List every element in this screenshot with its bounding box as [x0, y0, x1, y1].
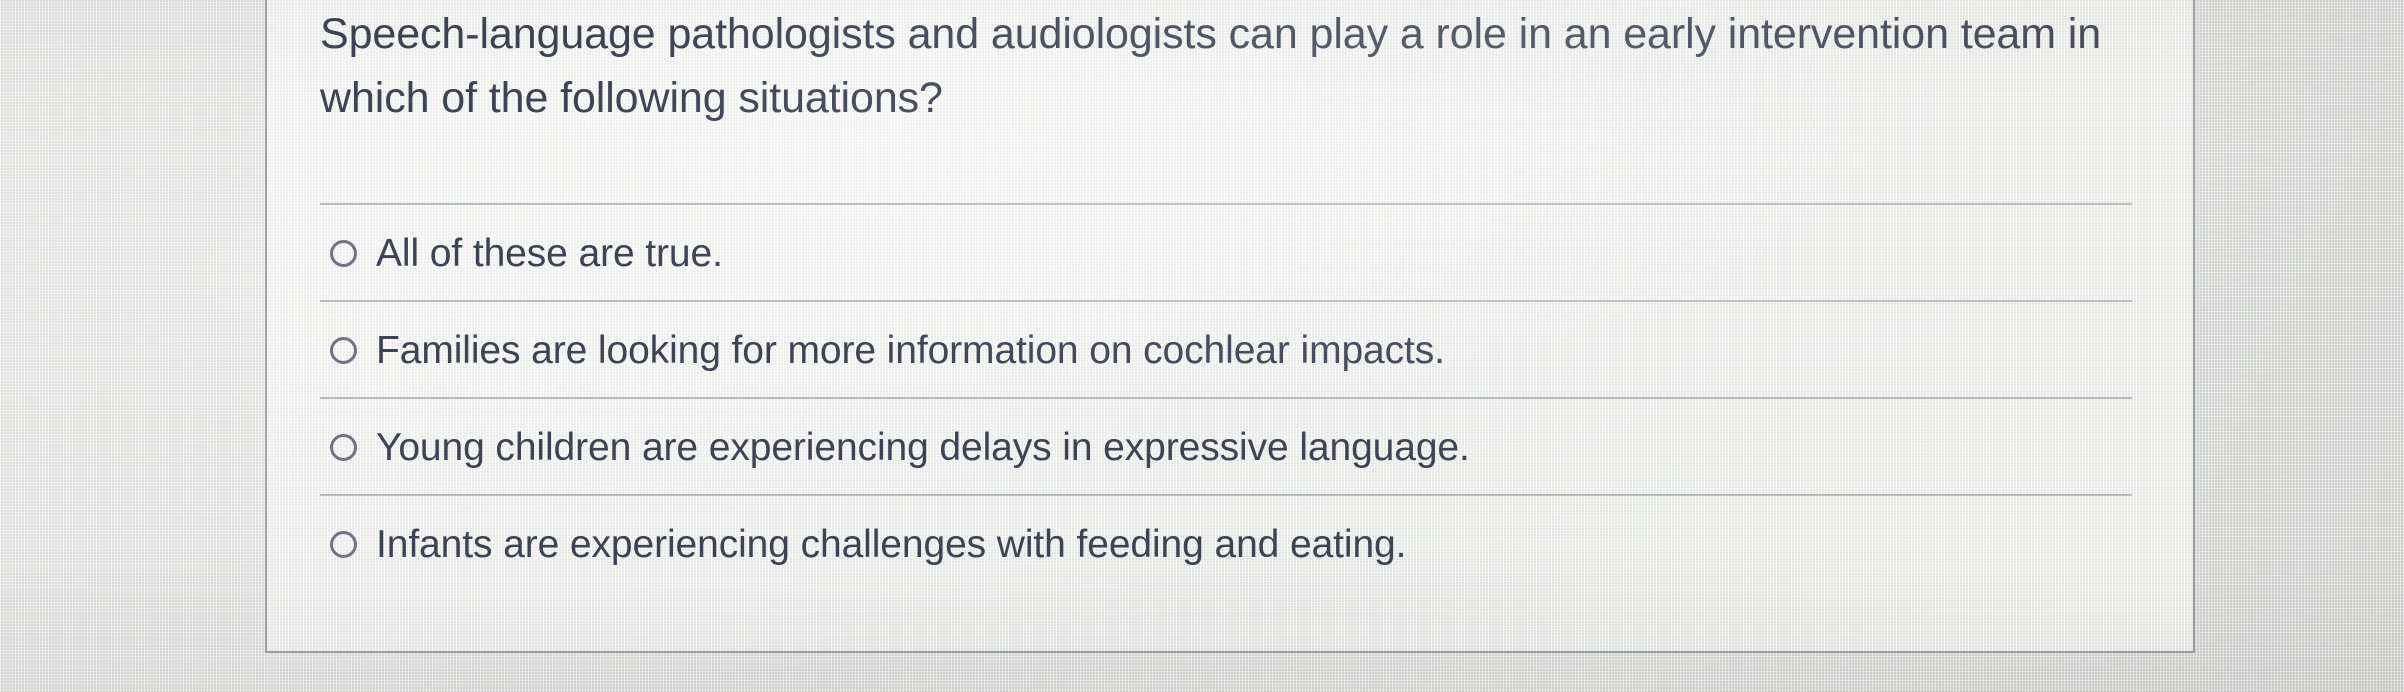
answer-option-label: Families are looking for more informatio…: [376, 329, 1445, 373]
radio-unchecked-icon[interactable]: [330, 434, 357, 461]
answer-option-label: Young children are experiencing delays i…: [376, 426, 1470, 470]
question-prompt: Speech-language pathologists and audiolo…: [320, 2, 2120, 130]
question-card-content: Speech-language pathologists and audiolo…: [267, 0, 2193, 651]
question-card: Speech-language pathologists and audiolo…: [265, 0, 2195, 653]
answer-option-label: All of these are true.: [376, 232, 723, 276]
answer-option-label: Infants are experiencing challenges with…: [376, 523, 1406, 567]
radio-unchecked-icon[interactable]: [330, 240, 357, 267]
answer-option-3[interactable]: Infants are experiencing challenges with…: [320, 494, 2132, 593]
radio-unchecked-icon[interactable]: [330, 531, 357, 558]
answer-option-1[interactable]: Families are looking for more informatio…: [320, 300, 2132, 399]
answer-option-0[interactable]: All of these are true.: [320, 203, 2132, 302]
radio-unchecked-icon[interactable]: [330, 337, 357, 364]
answer-option-2[interactable]: Young children are experiencing delays i…: [320, 397, 2132, 496]
